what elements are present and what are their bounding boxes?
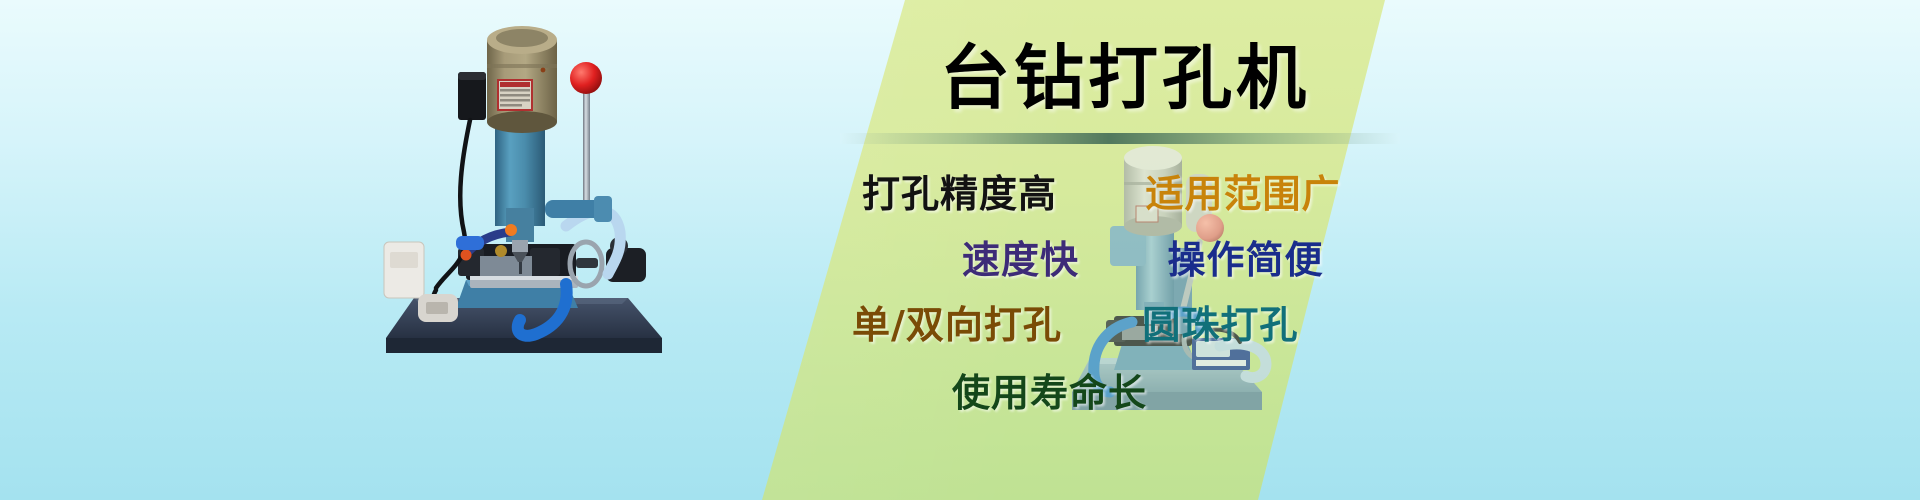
- feature-row-3: 单/双向打孔 圆珠打孔: [852, 303, 1298, 347]
- feature-row-2: 速度快 操作简便: [962, 238, 1324, 282]
- feature-item-single-double-drilling: 单/双向打孔: [852, 303, 1062, 347]
- feature-item-fast-speed: 速度快: [962, 238, 1079, 282]
- feature-item-long-lifespan: 使用寿命长: [952, 371, 1147, 415]
- feature-item-drilling-accuracy: 打孔精度高: [862, 172, 1057, 216]
- feature-row-1: 打孔精度高 适用范围广: [862, 172, 1341, 216]
- title-divider: [840, 133, 1400, 144]
- feature-item-wide-application: 适用范围广: [1145, 172, 1340, 216]
- product-banner: 台钻打孔机 打孔精度高 适用范围广 速度快 操作简便 单/双向打孔 圆珠打孔 使…: [0, 0, 1920, 500]
- feature-item-easy-operation: 操作简便: [1167, 238, 1323, 282]
- feature-item-bead-drilling: 圆珠打孔: [1142, 303, 1298, 347]
- page-title: 台钻打孔机: [940, 38, 1310, 118]
- feature-row-4: 使用寿命长: [952, 371, 1147, 415]
- banner-text-block: 台钻打孔机 打孔精度高 适用范围广 速度快 操作简便 单/双向打孔 圆珠打孔 使…: [0, 0, 1920, 500]
